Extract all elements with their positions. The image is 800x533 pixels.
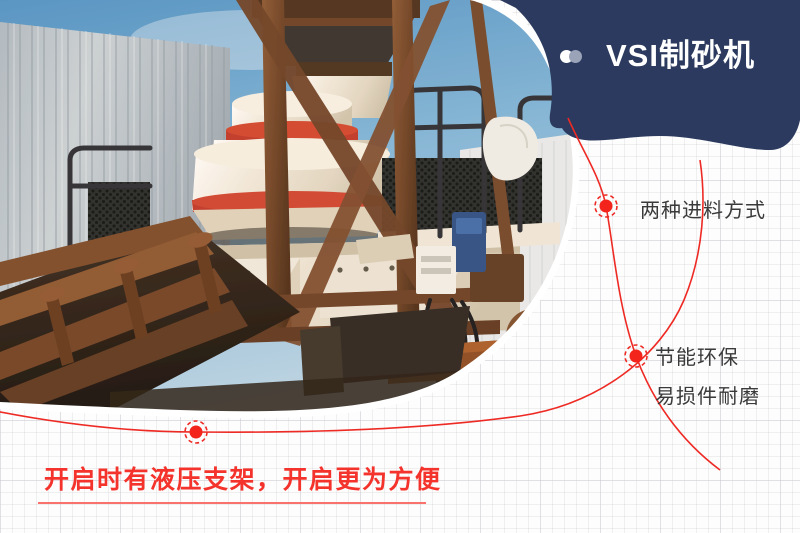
- feature-label-2: 节能环保: [655, 342, 739, 374]
- double-dot-bullet-icon: [560, 48, 590, 64]
- banner-title: VSI制砂机: [560, 40, 755, 71]
- caption-text: 开启时有液压支架，开启更为方便: [44, 468, 442, 493]
- feature-marker-1[interactable]: [595, 195, 617, 217]
- promo-banner: VSI制砂机 两种进料方式 节能环保 易损件耐磨 开启时有液压支架，开启更为方便: [0, 0, 800, 533]
- caption-underline: [38, 502, 426, 504]
- feature-label-3: 易损件耐磨: [655, 381, 760, 413]
- feature-marker-2[interactable]: [625, 345, 647, 367]
- banner-title-text: VSI制砂机: [606, 40, 755, 71]
- feature-label-1: 两种进料方式: [640, 195, 766, 227]
- caption-marker[interactable]: [185, 421, 207, 443]
- markers-layer: [0, 0, 800, 533]
